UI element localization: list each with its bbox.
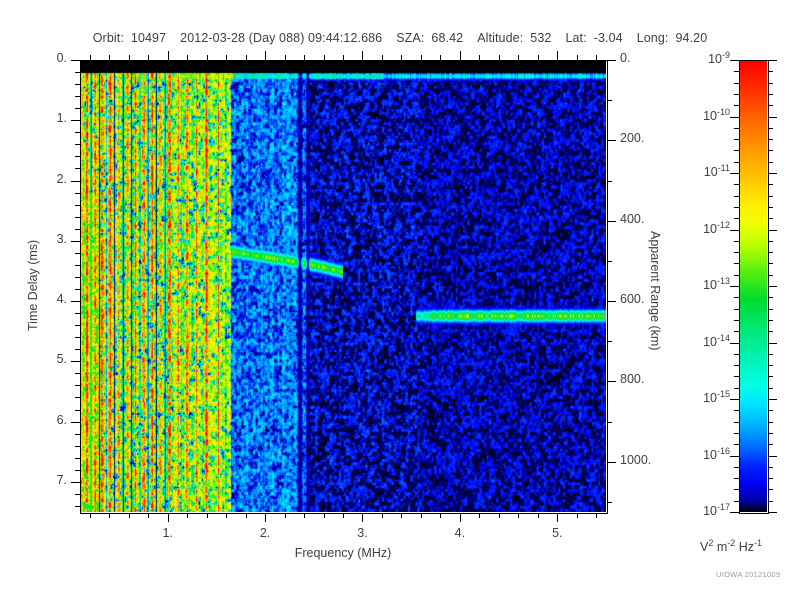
x-tick-top [285,55,286,60]
y-tick-major-3 [71,241,80,242]
y-axis-title-right: Apparent Range (km) [648,231,662,351]
x-tick-top [479,55,480,60]
y-tick-minor [75,217,80,218]
colorbar-tick-minor-right [768,83,773,84]
y-tick-minor [75,506,80,507]
colorbar-unit-label: V2 m-2 Hz-1 [700,538,762,554]
y-tick-label-0: 0. [0,51,67,65]
x-tick-minor [382,513,383,518]
colorbar-tick-minor [734,139,739,140]
y-tick-minor [75,205,80,206]
y2-tick-label-0: 0. [620,51,630,65]
y-tick-label-6: 6. [0,413,67,427]
colorbar-tick-minor [734,444,739,445]
y-tick-minor [75,494,80,495]
y-tick-major-7 [71,482,80,483]
y-tick-minor [75,313,80,314]
y-tick-minor [75,446,80,447]
orbit-label: Orbit: [93,31,124,45]
colorbar-tick-minor-right [768,128,773,129]
colorbar-tick-label--13: 10-13 [676,276,730,292]
colorbar-tick-label--9: 10-9 [676,50,730,66]
colorbar-tick-major--17 [730,512,739,513]
colorbar-tick-major--13 [730,286,739,287]
x-tick-minor [109,513,110,518]
colorbar-tick-minor [734,365,739,366]
y-tick-minor [75,265,80,266]
colorbar-tick-minor [734,218,739,219]
x-tick-top [246,55,247,60]
y2-tick-minor [607,181,612,182]
colorbar-tick-minor [734,489,739,490]
colorbar-tick-minor-right [768,433,773,434]
y-tick-minor [75,72,80,73]
x-tick-minor [207,513,208,518]
y-tick-minor [75,325,80,326]
x-tick-label-4: 4. [430,526,490,540]
y-tick-minor [75,385,80,386]
y2-tick-major-600 [607,301,616,302]
x-tick-major-3 [362,513,363,522]
colorbar-tick-minor-right [768,410,773,411]
y-tick-minor [75,337,80,338]
x-tick-top [401,55,402,60]
colorbar-tick-minor [734,128,739,129]
x-tick-minor [226,513,227,518]
x-tick-top [577,55,578,60]
long-value: 94.20 [675,31,707,45]
x-axis-title: Frequency (MHz) [283,546,403,560]
x-tick-top [499,55,500,60]
colorbar-tick-minor [734,184,739,185]
colorbar-tick-minor-right [768,184,773,185]
colorbar-tick-minor-right [768,309,773,310]
colorbar-tick-minor-right [768,297,773,298]
credit-text: UIOWA 20121009 [716,570,780,579]
header-metadata: Orbit:104972012-03-28 (Day 088) 09:44:12… [0,31,800,45]
observation-datetime: 2012-03-28 (Day 088) 09:44:12.686 [180,31,382,45]
x-tick-minor [285,513,286,518]
colorbar-tick-minor-right [768,252,773,253]
x-tick-top [129,55,130,60]
x-tick-label-5: 5. [527,526,587,540]
y2-tick-major-400 [607,221,616,222]
colorbar-tick-label--12: 10-12 [676,220,730,236]
x-tick-minor [401,513,402,518]
y2-tick-minor [607,422,612,423]
y2-tick-label-1000: 1000. [620,453,651,467]
colorbar-tick-minor [734,309,739,310]
x-tick-minor [518,513,519,518]
x-tick-minor [538,513,539,518]
x-tick-minor [596,513,597,518]
orbit-value: 10497 [131,31,166,45]
colorbar-tick-major-right--10 [768,117,777,118]
x-tick-minor [304,513,305,518]
y-tick-major-6 [71,422,80,423]
x-tick-minor [187,513,188,518]
y2-tick-minor [607,341,612,342]
x-tick-top [557,51,558,60]
colorbar-tick-minor [734,207,739,208]
x-tick-top [207,55,208,60]
colorbar-tick-minor-right [768,388,773,389]
colorbar-tick-major-right--13 [768,286,777,287]
colorbar-tick-minor [734,478,739,479]
x-tick-top [382,55,383,60]
colorbar-tick-minor-right [768,139,773,140]
colorbar-tick-minor [734,422,739,423]
y2-tick-major-1000 [607,462,616,463]
y2-tick-minor [607,261,612,262]
ionogram-page: Orbit:104972012-03-28 (Day 088) 09:44:12… [0,0,800,600]
x-tick-top [148,55,149,60]
colorbar-tick-minor-right [768,241,773,242]
colorbar-tick-minor [734,467,739,468]
y-tick-label-1: 1. [0,111,67,125]
x-tick-minor [479,513,480,518]
y2-tick-minor [607,502,612,503]
y-tick-minor [75,277,80,278]
lat-value: -3.04 [594,31,623,45]
colorbar-tick-minor [734,263,739,264]
x-tick-minor [148,513,149,518]
long-label: Long: [637,31,669,45]
colorbar-tick-minor [734,297,739,298]
x-tick-major-1 [168,513,169,522]
y2-tick-major-200 [607,140,616,141]
colorbar-tick-minor-right [768,478,773,479]
colorbar-tick-label--16: 10-16 [676,446,730,462]
y2-tick-label-400: 400. [620,212,644,226]
colorbar-tick-major--9 [730,60,739,61]
x-tick-minor [90,513,91,518]
altitude-value: 532 [530,31,551,45]
x-tick-top [168,51,169,60]
colorbar-tick-major-right--15 [768,399,777,400]
colorbar-tick-label--11: 10-11 [676,163,730,179]
colorbar-tick-major-right--16 [768,456,777,457]
y-tick-minor [75,289,80,290]
colorbar-tick-minor-right [768,320,773,321]
colorbar-tick-minor-right [768,365,773,366]
colorbar-tick-major--10 [730,117,739,118]
colorbar-tick-minor-right [768,467,773,468]
y-tick-minor [75,349,80,350]
y-tick-label-7: 7. [0,473,67,487]
colorbar-tick-minor [734,331,739,332]
y2-tick-major-0 [607,60,616,61]
x-tick-top [460,51,461,60]
y-tick-minor [75,144,80,145]
x-tick-top [343,55,344,60]
y-tick-minor [75,397,80,398]
colorbar-tick-minor-right [768,501,773,502]
y-tick-minor [75,96,80,97]
colorbar-tick-major-right--12 [768,230,777,231]
colorbar-tick-minor-right [768,162,773,163]
spectrogram-canvas [80,60,606,512]
x-tick-top [440,55,441,60]
y-tick-major-2 [71,181,80,182]
x-tick-top [304,55,305,60]
colorbar-tick-major-right--9 [768,60,777,61]
sza-value: 68.42 [431,31,463,45]
x-tick-minor [129,513,130,518]
y-tick-minor [75,193,80,194]
y2-tick-label-600: 600. [620,292,644,306]
x-tick-top [226,55,227,60]
colorbar-tick-minor-right [768,354,773,355]
y2-tick-minor [607,100,612,101]
x-tick-top [90,55,91,60]
colorbar-tick-minor-right [768,444,773,445]
colorbar-tick-minor [734,196,739,197]
colorbar-tick-minor-right [768,275,773,276]
colorbar-tick-minor-right [768,94,773,95]
colorbar-tick-minor [734,410,739,411]
x-tick-major-5 [557,513,558,522]
colorbar-tick-minor [734,433,739,434]
colorbar-tick-minor-right [768,71,773,72]
colorbar-tick-major--12 [730,230,739,231]
colorbar-tick-minor-right [768,263,773,264]
colorbar-tick-minor [734,83,739,84]
x-tick-minor [440,513,441,518]
colorbar-tick-minor [734,252,739,253]
colorbar-tick-minor [734,94,739,95]
colorbar-tick-minor-right [768,105,773,106]
colorbar-tick-label--14: 10-14 [676,333,730,349]
x-tick-minor [499,513,500,518]
colorbar-tick-minor [734,275,739,276]
colorbar-tick-major--11 [730,173,739,174]
y-tick-minor [75,410,80,411]
colorbar-tick-label--15: 10-15 [676,389,730,405]
x-tick-top [538,55,539,60]
y-tick-minor [75,108,80,109]
x-tick-label-2: 2. [235,526,295,540]
colorbar-tick-label--17: 10-17 [676,502,730,518]
colorbar-tick-minor [734,105,739,106]
colorbar-tick-minor-right [768,196,773,197]
y-tick-major-0 [71,60,80,61]
colorbar-gradient [739,60,767,512]
x-tick-top [596,55,597,60]
colorbar-tick-minor [734,501,739,502]
y-tick-minor [75,84,80,85]
y-tick-minor [75,470,80,471]
x-tick-label-1: 1. [138,526,198,540]
x-tick-major-4 [460,513,461,522]
colorbar-tick-minor [734,241,739,242]
x-tick-minor [324,513,325,518]
x-tick-minor [343,513,344,518]
x-tick-top [362,51,363,60]
x-tick-label-3: 3. [332,526,392,540]
y-tick-minor [75,132,80,133]
x-tick-top [421,55,422,60]
x-tick-top [265,51,266,60]
colorbar-tick-minor-right [768,489,773,490]
colorbar-tick-minor-right [768,150,773,151]
colorbar-tick-major--16 [730,456,739,457]
colorbar-tick-major--14 [730,343,739,344]
y-tick-label-5: 5. [0,352,67,366]
y2-tick-major-800 [607,381,616,382]
colorbar-tick-minor-right [768,218,773,219]
colorbar-tick-label--10: 10-10 [676,107,730,123]
x-tick-minor [246,513,247,518]
colorbar-tick-minor [734,150,739,151]
y-tick-minor [75,168,80,169]
colorbar-tick-major--15 [730,399,739,400]
x-tick-top [109,55,110,60]
colorbar-tick-minor-right [768,376,773,377]
y-tick-major-5 [71,361,80,362]
colorbar-tick-minor [734,71,739,72]
x-tick-minor [421,513,422,518]
y-tick-minor [75,229,80,230]
x-tick-major-2 [265,513,266,522]
altitude-label: Altitude: [477,31,523,45]
y2-tick-label-800: 800. [620,372,644,386]
y-tick-minor [75,458,80,459]
colorbar-tick-minor-right [768,331,773,332]
y-tick-minor [75,373,80,374]
colorbar-tick-minor [734,320,739,321]
lat-label: Lat: [565,31,586,45]
y-tick-minor [75,434,80,435]
colorbar-tick-minor-right [768,207,773,208]
y2-tick-label-200: 200. [620,131,644,145]
y-tick-minor [75,253,80,254]
x-tick-minor [577,513,578,518]
colorbar-tick-minor [734,376,739,377]
sza-label: SZA: [396,31,424,45]
x-tick-top [518,55,519,60]
y-tick-label-2: 2. [0,172,67,186]
x-tick-top [187,55,188,60]
ionogram-plot-area [80,60,606,512]
x-tick-top [324,55,325,60]
colorbar-tick-minor [734,388,739,389]
y-axis-title-left: Time Delay (ms) [26,240,40,331]
y-tick-major-4 [71,301,80,302]
colorbar-tick-major-right--11 [768,173,777,174]
y-tick-major-1 [71,120,80,121]
colorbar-tick-minor-right [768,422,773,423]
colorbar-tick-major-right--17 [768,512,777,513]
colorbar-tick-minor [734,354,739,355]
y-tick-minor [75,156,80,157]
colorbar-tick-minor [734,162,739,163]
colorbar-tick-major-right--14 [768,343,777,344]
